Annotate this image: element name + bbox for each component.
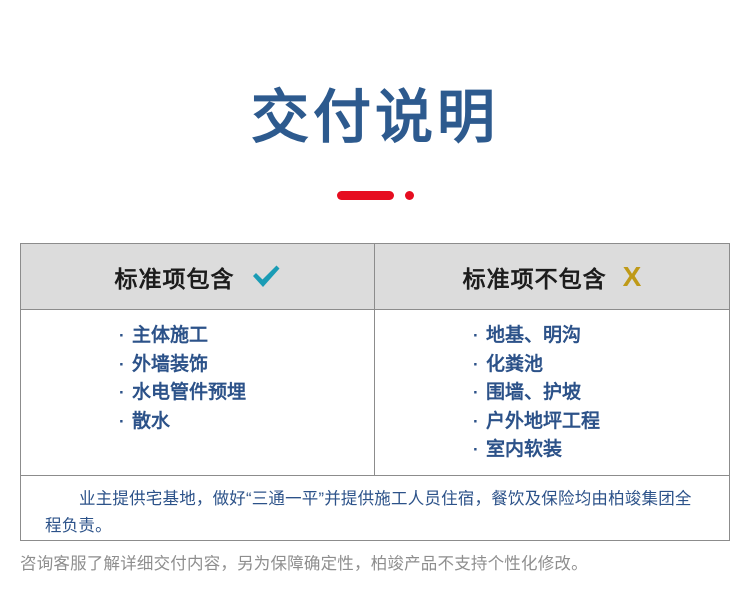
included-header-label: 标准项包含 bbox=[115, 260, 235, 294]
list-item: ·外墙装饰 bbox=[119, 351, 374, 380]
bullet-icon: · bbox=[119, 322, 132, 351]
list-item-label: 外墙装饰 bbox=[132, 354, 208, 375]
red-bar-icon bbox=[337, 191, 394, 200]
included-items-list: ·主体施工 ·外墙装饰 ·水电管件预埋 ·散水 bbox=[119, 322, 374, 436]
list-item-label: 散水 bbox=[132, 411, 170, 432]
not-included-items-cell: ·地基、明沟 ·化粪池 ·围墙、护坡 ·户外地坪工程 ·室内软装 bbox=[375, 310, 729, 475]
list-item-label: 主体施工 bbox=[132, 325, 208, 346]
bullet-icon: · bbox=[119, 408, 132, 437]
red-dot-icon bbox=[405, 191, 414, 200]
delivery-instructions-page: 交付说明 标准项包含 标准项不包含 X ·主 bbox=[0, 0, 750, 597]
bullet-icon: · bbox=[119, 351, 132, 380]
list-item-label: 地基、明沟 bbox=[486, 325, 581, 346]
check-icon bbox=[251, 264, 281, 290]
delivery-note-text: 业主提供宅基地，做好“三通一平”并提供施工人员住宿，餐饮及保险均由柏竣集团全程负… bbox=[45, 486, 705, 540]
list-item: ·地基、明沟 bbox=[473, 322, 729, 351]
included-items-cell: ·主体施工 ·外墙装饰 ·水电管件预埋 ·散水 bbox=[21, 310, 375, 475]
table-header-cell-included: 标准项包含 bbox=[21, 244, 375, 309]
footer-block: 咨询客服了解详细交付内容，另为保障确定性，柏竣产品不支持个性化修改。 bbox=[20, 552, 730, 576]
bullet-icon: · bbox=[119, 379, 132, 408]
list-item: ·围墙、护坡 bbox=[473, 379, 729, 408]
footer-note-text: 咨询客服了解详细交付内容，另为保障确定性，柏竣产品不支持个性化修改。 bbox=[20, 552, 730, 576]
bullet-icon: · bbox=[473, 322, 486, 351]
title-block: 交付说明 bbox=[0, 86, 750, 150]
list-item: ·主体施工 bbox=[119, 322, 374, 351]
list-item-label: 水电管件预埋 bbox=[132, 382, 246, 403]
list-item-label: 室内软装 bbox=[486, 439, 562, 460]
page-title: 交付说明 bbox=[0, 86, 750, 150]
list-item-label: 户外地坪工程 bbox=[486, 411, 600, 432]
list-item: ·户外地坪工程 bbox=[473, 408, 729, 437]
not-included-items-list: ·地基、明沟 ·化粪池 ·围墙、护坡 ·户外地坪工程 ·室内软装 bbox=[473, 322, 729, 465]
x-icon: X bbox=[623, 263, 642, 291]
list-item-label: 围墙、护坡 bbox=[486, 382, 581, 403]
table-note-row: 业主提供宅基地，做好“三通一平”并提供施工人员住宿，餐饮及保险均由柏竣集团全程负… bbox=[21, 476, 729, 540]
bullet-icon: · bbox=[473, 436, 486, 465]
list-item: ·水电管件预埋 bbox=[119, 379, 374, 408]
not-included-header-label: 标准项不包含 bbox=[463, 260, 607, 294]
bullet-icon: · bbox=[473, 408, 486, 437]
table-header-cell-not-included: 标准项不包含 X bbox=[375, 244, 729, 309]
delivery-scope-table: 标准项包含 标准项不包含 X ·主体施工 ·外墙装饰 ·水电管件预埋 ·散水 bbox=[20, 243, 730, 541]
bullet-icon: · bbox=[473, 379, 486, 408]
bullet-icon: · bbox=[473, 351, 486, 380]
list-item: ·室内软装 bbox=[473, 436, 729, 465]
list-item-label: 化粪池 bbox=[486, 354, 543, 375]
table-header-row: 标准项包含 标准项不包含 X bbox=[21, 244, 729, 310]
list-item: ·化粪池 bbox=[473, 351, 729, 380]
list-item: ·散水 bbox=[119, 408, 374, 437]
table-body-row: ·主体施工 ·外墙装饰 ·水电管件预埋 ·散水 ·地基、明沟 ·化粪池 ·围墙、… bbox=[21, 310, 729, 476]
title-divider bbox=[0, 191, 750, 200]
